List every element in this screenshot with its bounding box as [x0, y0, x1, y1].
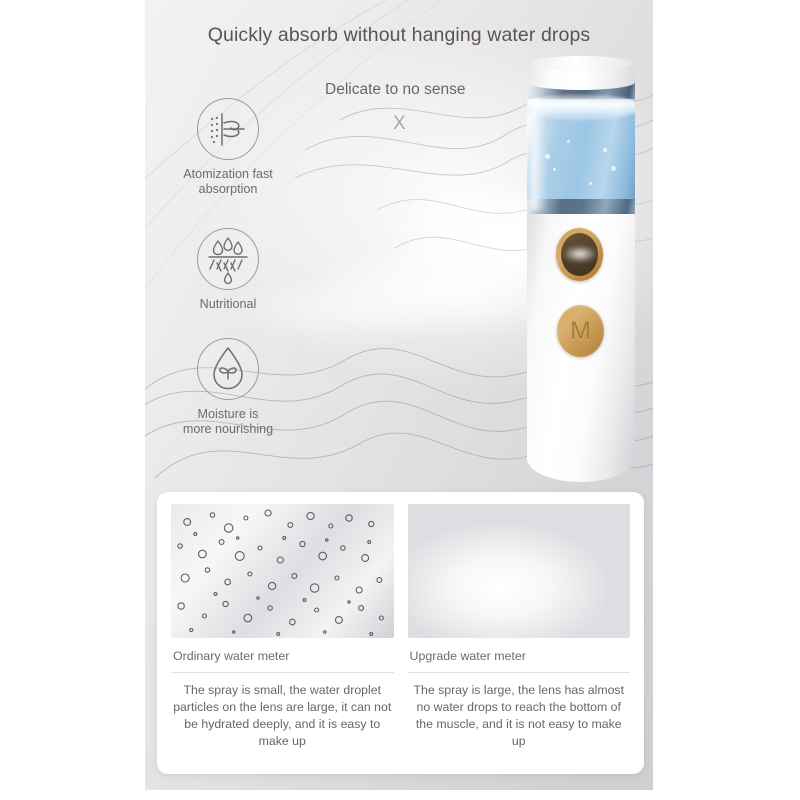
- bubble: [553, 168, 556, 171]
- subtitle: Delicate to no sense: [325, 81, 465, 99]
- column-title: Ordinary water meter: [171, 649, 394, 663]
- feature-caption: Moisture is more nourishing: [153, 407, 303, 438]
- feature-item-moisture: Moisture is more nourishing: [153, 338, 303, 438]
- water-droplets-overlay: [171, 504, 394, 638]
- power-button-label: M: [570, 319, 591, 344]
- handheld-nano-mist-sprayer: M: [527, 60, 635, 488]
- bubble: [545, 154, 550, 159]
- feature-item-nutritional: Nutritional: [153, 228, 303, 312]
- device-cap-top: [530, 56, 632, 71]
- feature-item-atomization: Atomization fast absorption: [153, 98, 303, 198]
- lens-clean-no-water-drops: [408, 504, 631, 638]
- power-button[interactable]: M: [557, 305, 604, 357]
- water-surface-highlight: [535, 102, 627, 115]
- column-divider: [171, 672, 394, 673]
- lens-with-large-water-droplets: [171, 504, 394, 638]
- mist-nozzle-icon[interactable]: [556, 228, 603, 281]
- atomization-spray-icon: [197, 98, 259, 160]
- bubble: [603, 148, 607, 152]
- nozzle-mist: [561, 241, 598, 267]
- feature-caption: Nutritional: [153, 297, 303, 312]
- bubble: [589, 182, 592, 185]
- comparison-card: Ordinary water meter The spray is small,…: [157, 492, 644, 774]
- column-title: Upgrade water meter: [408, 649, 631, 663]
- column-divider: [408, 672, 631, 673]
- product-feature-page: Quickly absorb without hanging water dro…: [0, 0, 800, 800]
- feature-caption: Atomization fast absorption: [153, 167, 303, 198]
- bubble: [567, 140, 570, 143]
- column-description: The spray is large, the lens has almost …: [408, 682, 631, 750]
- water-drops-penetration-icon: [197, 228, 259, 290]
- column-description: The spray is small, the water droplet pa…: [171, 682, 394, 750]
- droplet-sprout-icon: [197, 338, 259, 400]
- bubble: [611, 166, 616, 171]
- device-water-tank: [527, 82, 635, 214]
- comparison-column-ordinary: Ordinary water meter The spray is small,…: [171, 504, 394, 750]
- x-mark-annotation: X: [393, 113, 406, 135]
- page-title: Quickly absorb without hanging water dro…: [145, 24, 653, 47]
- nozzle-opening: [561, 233, 598, 276]
- comparison-column-upgrade: Upgrade water meter The spray is large, …: [408, 504, 631, 750]
